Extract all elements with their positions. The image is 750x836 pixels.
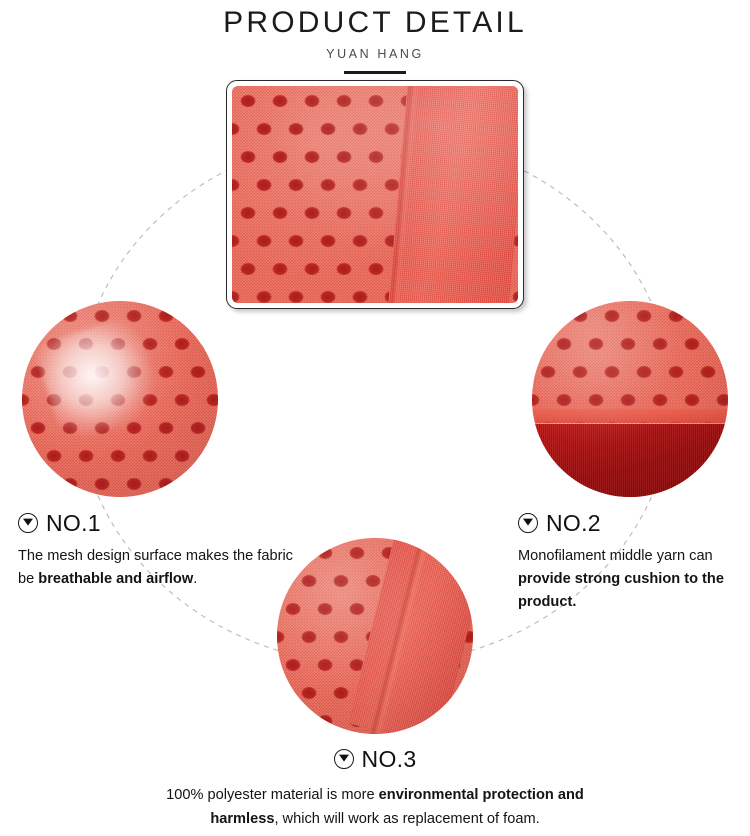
text-segment-trailing: . — [193, 571, 197, 587]
center-product-photo-frame — [226, 80, 524, 309]
chevron-down-circle-icon — [518, 513, 538, 533]
callout-heading: NO.3 — [140, 744, 610, 774]
circle-shading-overlay — [22, 301, 218, 497]
text-segment-normal: Monofilament middle yarn can — [518, 548, 713, 564]
callout-description: The mesh design surface makes the fabric… — [18, 545, 308, 591]
center-product-photo — [232, 86, 518, 303]
text-segment-emphasis: breathable and airflow — [38, 571, 193, 587]
page-title: PRODUCT DETAIL — [0, 0, 750, 40]
circle-shading-overlay — [532, 301, 728, 497]
callout-no-3: NO.3 100% polyester material is more env… — [140, 744, 610, 831]
title-underline-rule — [344, 71, 406, 74]
callout-number-label: NO.1 — [46, 510, 101, 536]
text-segment-emphasis: provide strong cushion to the product. — [518, 571, 724, 610]
callout-description: Monofilament middle yarn can provide str… — [518, 545, 750, 614]
text-segment-normal: 100% polyester material is more — [166, 787, 379, 803]
chevron-down-circle-icon — [18, 513, 38, 533]
callout-no-1: NO.1 The mesh design surface makes the f… — [18, 508, 308, 591]
chevron-down-circle-icon — [334, 749, 354, 769]
callout-heading: NO.2 — [518, 508, 750, 538]
callout-number-label: NO.3 — [362, 746, 417, 772]
photo-sheen-overlay — [232, 86, 518, 303]
page-subtitle: YUAN HANG — [0, 40, 750, 62]
product-detail-infographic: PRODUCT DETAIL YUAN HANG — [0, 0, 750, 836]
detail-photo-circle-1 — [22, 301, 218, 497]
page-header: PRODUCT DETAIL YUAN HANG — [0, 0, 750, 74]
detail-photo-circle-2 — [532, 301, 728, 497]
callout-description: 100% polyester material is more environm… — [140, 783, 610, 831]
callout-number-label: NO.2 — [546, 510, 601, 536]
callout-heading: NO.1 — [18, 508, 308, 538]
text-segment-trailing: , which will work as replacement of foam… — [274, 811, 539, 827]
callout-no-2: NO.2 Monofilament middle yarn can provid… — [518, 508, 750, 614]
